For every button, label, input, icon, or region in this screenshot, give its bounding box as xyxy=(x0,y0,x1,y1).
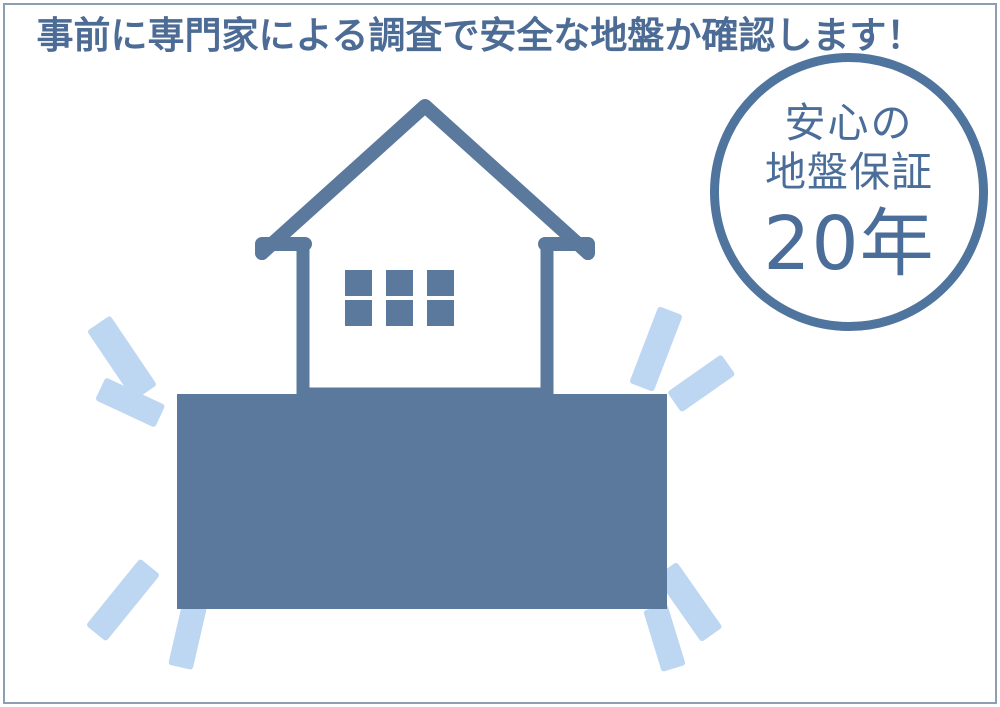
badge-line-2: 地盤保証 xyxy=(765,147,933,197)
window xyxy=(386,270,413,296)
window xyxy=(427,300,454,326)
sparkle-ray xyxy=(629,306,683,392)
sparkle-ray xyxy=(86,558,160,641)
sparkle-ray xyxy=(667,354,735,412)
house-roof xyxy=(262,106,588,253)
window xyxy=(345,270,372,296)
sparkle-rays-top-left xyxy=(87,315,165,427)
window xyxy=(386,300,413,326)
poster-canvas: 事前に専門家による調査で安全な地盤か確認します！ xyxy=(0,0,1000,707)
window xyxy=(345,300,372,326)
sparkle-ray xyxy=(643,604,686,673)
house-windows xyxy=(345,270,454,326)
window xyxy=(427,270,454,296)
badge-years: 20年 xyxy=(763,203,934,285)
sparkle-ray xyxy=(168,602,207,670)
ground-block xyxy=(177,394,667,609)
badge-line-1: 安心の xyxy=(785,99,914,147)
guarantee-badge: 安心の 地盤保証 20年 xyxy=(710,53,988,331)
